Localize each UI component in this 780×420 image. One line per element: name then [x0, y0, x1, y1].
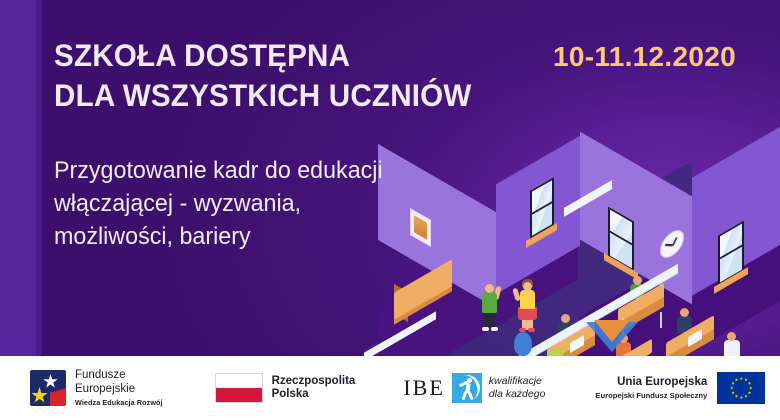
logo-ibe-kwalifikacje: IBE kwalifikacje dla każdego: [403, 356, 545, 420]
student-body: [724, 340, 740, 356]
subheadline-line-1: Przygotowanie kadr do edukacji: [54, 155, 463, 188]
polish-flag-icon: [215, 373, 263, 403]
fe-line-1: Fundusze: [75, 369, 163, 382]
fe-line-2: Europejskie: [75, 383, 163, 396]
eu-star: [730, 386, 734, 390]
logo-fundusze-europejskie: Fundusze Europejskie Wiedza Edukacja Roz…: [30, 356, 163, 420]
student-head: [633, 276, 642, 285]
hero-purple-background: SZKOŁA DOSTĘPNA DLA WSZYSTKICH UCZNIÓW P…: [0, 0, 780, 356]
eu-star: [735, 394, 739, 398]
ue-line-1: Unia Europejska: [595, 376, 707, 390]
kw-line-2: dla każdego: [489, 388, 546, 401]
logo-rzeczpospolita-polska: Rzeczpospolita Polska: [215, 356, 356, 420]
rzeczpospolita-polska-text: Rzeczpospolita Polska: [272, 375, 356, 402]
rp-line-2: Polska: [272, 388, 356, 401]
eu-star: [744, 378, 748, 382]
page-title: SZKOŁA DOSTĘPNA DLA WSZYSTKICH UCZNIÓW: [54, 36, 524, 115]
page-subtitle: Przygotowanie kadr do edukacji włączając…: [54, 155, 484, 253]
eu-star: [749, 386, 753, 390]
signing-person-b-shoe: [528, 328, 535, 332]
student-head: [561, 314, 570, 323]
eu-star: [739, 396, 743, 400]
balloon-shape: [514, 332, 532, 356]
headline-line-2: DLA WSZYSTKICH UCZNIÓW: [54, 76, 496, 116]
left-accent-stripe: [0, 0, 36, 356]
desk-leg: [660, 312, 662, 328]
headline-line-1: SZKOŁA DOSTĘPNA: [54, 36, 496, 76]
student-head: [680, 308, 689, 317]
subheadline-line-3: możliwości, bariery: [54, 221, 463, 254]
rp-line-1: Rzeczpospolita: [272, 375, 356, 388]
eu-flag-icon: [717, 372, 765, 404]
eu-star: [731, 381, 735, 385]
unia-europejska-text: Unia Europejska Europejski Fundusz Społe…: [595, 376, 707, 400]
event-date: 10-11.12.2020: [553, 41, 736, 73]
student-head: [727, 332, 736, 341]
logo-unia-europejska: Unia Europejska Europejski Fundusz Społe…: [595, 356, 765, 420]
fe-line-3: Wiedza Edukacja Rozwój: [75, 398, 163, 407]
kwalifikacje-text: kwalifikacje dla każdego: [489, 375, 546, 401]
eu-star: [735, 378, 739, 382]
signing-person-a-body: [482, 292, 497, 313]
conference-banner: SZKOŁA DOSTĘPNA DLA WSZYSTKICH UCZNIÓW P…: [0, 0, 780, 420]
eu-star: [748, 391, 752, 395]
fundusze-europejskie-text: Fundusze Europejskie Wiedza Edukacja Roz…: [75, 369, 163, 406]
logo-bar: Fundusze Europejskie Wiedza Edukacja Roz…: [0, 356, 780, 420]
kw-line-1: kwalifikacje: [489, 375, 546, 388]
signing-person-b-body: [520, 290, 535, 309]
signing-person-a-head: [485, 284, 494, 293]
signing-person-a-shoe: [482, 327, 489, 331]
signing-person-b-head: [523, 282, 532, 291]
signing-person-a-shoe: [491, 327, 498, 331]
eu-star: [748, 381, 752, 385]
orange-wedge-accent: [594, 320, 630, 342]
ue-line-2: Europejski Fundusz Społeczny: [595, 391, 707, 400]
ibe-wordmark: IBE: [403, 375, 444, 401]
eu-star: [731, 391, 735, 395]
fundusze-europejskie-icon: [30, 370, 66, 406]
eu-star: [739, 377, 743, 381]
kwalifikacje-figure-icon: [452, 373, 482, 403]
left-accent-stripe-shadow: [36, 0, 42, 356]
eu-star: [744, 394, 748, 398]
subheadline-line-2: włączającej - wyzwania,: [54, 188, 463, 221]
